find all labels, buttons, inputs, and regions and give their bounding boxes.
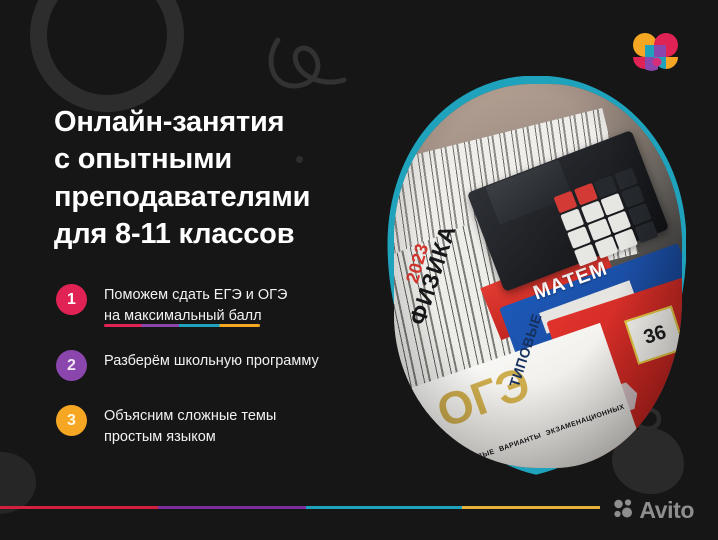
photo-container: МАТЕМ 36 ОГЭ ФИЗИКА ТИПОВЫЕ 2023 ФИЗИКА … bbox=[386, 76, 686, 476]
page-title: Онлайн-занятия с опытными преподавателям… bbox=[54, 104, 384, 253]
bottom-color-bar bbox=[0, 506, 600, 509]
avito-wordmark: Avito bbox=[639, 497, 694, 524]
benefit-gradient-underline bbox=[104, 324, 260, 327]
benefit-text-3: Объясним сложные темы простым языком bbox=[104, 404, 276, 447]
bar-segment-2 bbox=[158, 506, 306, 509]
benefit-1-line-1: Поможем сдать ЕГЭ и ОГЭ bbox=[104, 285, 287, 306]
decorative-squiggle-icon bbox=[268, 34, 388, 94]
benefit-badge-1: 1 bbox=[56, 284, 87, 315]
benefit-text-1: Поможем сдать ЕГЭ и ОГЭ на максимальный … bbox=[104, 283, 287, 326]
decorative-blob-left bbox=[0, 452, 36, 514]
list-item: 1 Поможем сдать ЕГЭ и ОГЭ на максимальны… bbox=[56, 283, 396, 326]
list-item: 3 Объясним сложные темы простым языком bbox=[56, 404, 396, 447]
benefit-badge-2: 2 bbox=[56, 350, 87, 381]
avito-dots-icon bbox=[613, 497, 635, 524]
benefit-2-line-1: Разберём школьную программу bbox=[104, 351, 319, 372]
benefit-3-line-2: простым языком bbox=[104, 427, 276, 448]
list-item: 2 Разберём школьную программу bbox=[56, 349, 396, 381]
headline-line-4: для 8-11 классов bbox=[54, 216, 384, 253]
bar-segment-3 bbox=[306, 506, 462, 509]
decorative-ring-shape bbox=[30, 0, 184, 112]
benefit-badge-3: 3 bbox=[56, 405, 87, 436]
benefit-3-line-1: Объясним сложные темы bbox=[104, 406, 276, 427]
promo-banner: Онлайн-занятия с опытными преподавателям… bbox=[0, 0, 718, 540]
benefits-list: 1 Поможем сдать ЕГЭ и ОГЭ на максимальны… bbox=[56, 283, 396, 448]
bar-segment-1 bbox=[0, 506, 158, 509]
headline-line-2: с опытными bbox=[54, 141, 384, 178]
headline-line-3: преподавателями bbox=[54, 179, 384, 216]
benefit-text-2: Разберём школьную программу bbox=[104, 349, 319, 372]
avito-watermark: Avito bbox=[613, 497, 694, 524]
bar-segment-4 bbox=[462, 506, 600, 509]
brand-logo-icon bbox=[630, 31, 682, 75]
headline-line-1: Онлайн-занятия bbox=[54, 104, 384, 141]
textbooks-photo: МАТЕМ 36 ОГЭ ФИЗИКА ТИПОВЫЕ 2023 ФИЗИКА … bbox=[394, 84, 682, 468]
